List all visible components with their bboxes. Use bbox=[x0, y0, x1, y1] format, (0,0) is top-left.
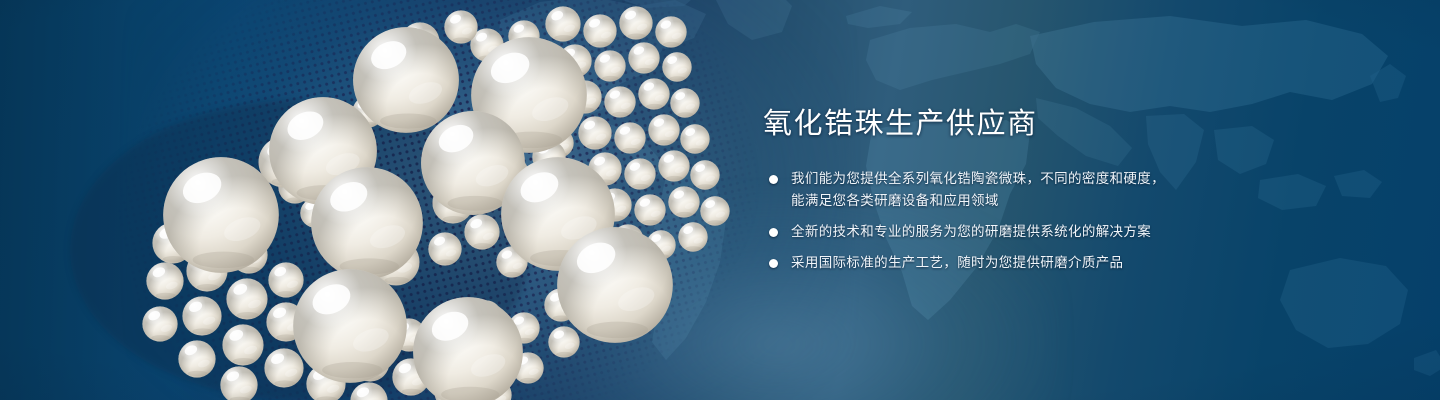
list-item: 我们能为您提供全系列氧化锆陶瓷微珠，不同的密度和硬度， 能满足您各类研磨设备和应… bbox=[763, 168, 1363, 212]
list-item-line: 全新的技术和专业的服务为您的研磨提供系统化的解决方案 bbox=[791, 221, 1363, 243]
list-item-line: 我们能为您提供全系列氧化锆陶瓷微珠，不同的密度和硬度， bbox=[791, 168, 1363, 190]
list-item-line: 采用国际标准的生产工艺，随时为您提供研磨介质产品 bbox=[791, 252, 1363, 274]
banner-copy: 氧化锆珠生产供应商 我们能为您提供全系列氧化锆陶瓷微珠，不同的密度和硬度， 能满… bbox=[763, 104, 1363, 274]
list-item-line: 能满足您各类研磨设备和应用领域 bbox=[791, 190, 1363, 212]
hero-banner: 氧化锆珠生产供应商 我们能为您提供全系列氧化锆陶瓷微珠，不同的密度和硬度， 能满… bbox=[0, 0, 1440, 400]
bullet-dot-icon bbox=[769, 259, 778, 268]
page-title: 氧化锆珠生产供应商 bbox=[763, 104, 1363, 144]
zirconia-beads-image bbox=[0, 0, 760, 400]
bullet-dot-icon bbox=[769, 228, 778, 237]
list-item: 全新的技术和专业的服务为您的研磨提供系统化的解决方案 bbox=[763, 221, 1363, 243]
list-item: 采用国际标准的生产工艺，随时为您提供研磨介质产品 bbox=[763, 252, 1363, 274]
bullet-dot-icon bbox=[769, 175, 778, 184]
feature-list: 我们能为您提供全系列氧化锆陶瓷微珠，不同的密度和硬度， 能满足您各类研磨设备和应… bbox=[763, 168, 1363, 274]
